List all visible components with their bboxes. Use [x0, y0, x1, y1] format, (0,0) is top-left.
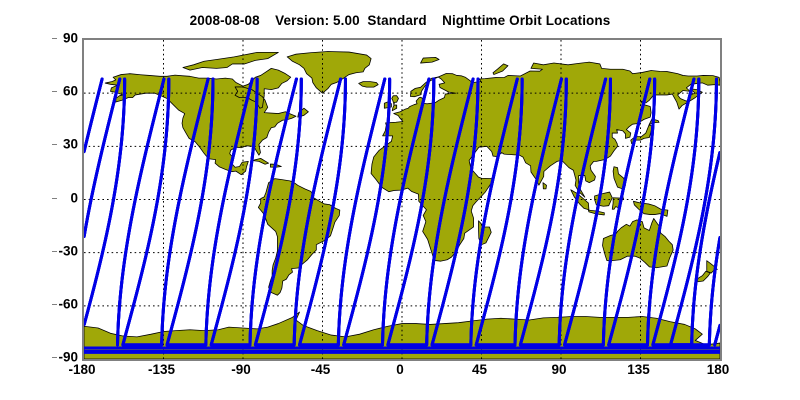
y-tick-mark	[52, 38, 57, 39]
x-tick-label: 90	[524, 362, 594, 377]
x-tick-label: -90	[206, 362, 276, 377]
y-tick-mark	[52, 304, 57, 305]
world-map-with-orbit-tracks	[84, 40, 720, 359]
chart-title: 2008-08-08 Version: 5.00 Standard Nightt…	[0, 13, 800, 28]
x-tick-label: -135	[127, 362, 197, 377]
x-tick-label: 45	[445, 362, 515, 377]
y-tick-mark	[52, 144, 57, 145]
x-tick-label: 180	[683, 362, 753, 377]
plot-frame	[82, 38, 722, 361]
y-tick-mark	[52, 357, 57, 358]
x-tick-label: -180	[47, 362, 117, 377]
plot-area	[84, 40, 720, 359]
x-tick-label: -45	[286, 362, 356, 377]
y-tick-mark	[52, 198, 57, 199]
orbit-locations-chart: 2008-08-08 Version: 5.00 Standard Nightt…	[0, 0, 800, 400]
y-tick-mark	[52, 91, 57, 92]
y-tick-mark	[52, 251, 57, 252]
x-axis-labels: -180-135-90-4504590135180	[82, 362, 718, 382]
x-tick-label: 135	[604, 362, 674, 377]
x-tick-label: 0	[365, 362, 435, 377]
